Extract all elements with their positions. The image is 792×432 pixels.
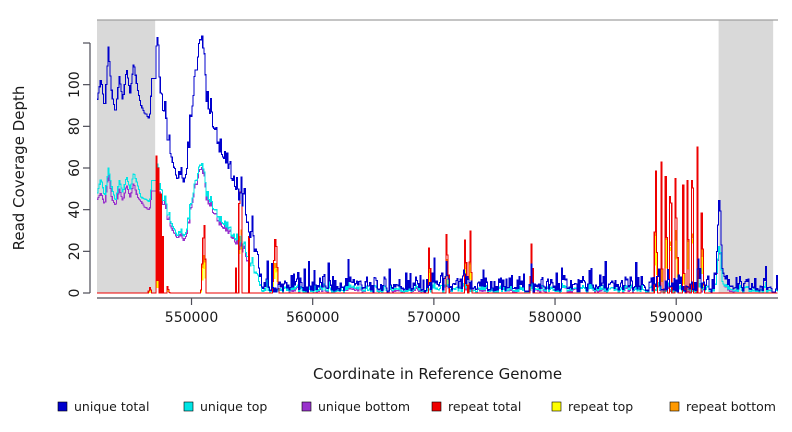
legend-swatch-repeat-bottom [670,402,679,411]
right-repeat-region [719,20,774,293]
y-tick-label: 80 [67,117,83,135]
y-tick-label: 40 [67,201,83,219]
x-tick-label: 570000 [407,310,460,326]
legend-swatch-unique-total [58,402,67,411]
legend-swatch-repeat-total [432,402,441,411]
y-axis-title: Read Coverage Depth [10,86,28,251]
legend-label: repeat total [448,399,521,414]
legend-swatch-unique-top [184,402,193,411]
coverage-chart-svg: 5500005600005700005800005900000204060801… [0,0,792,432]
coverage-plot-figure: 5500005600005700005800005900000204060801… [0,0,792,432]
legend-item[interactable]: unique bottom [302,399,410,414]
y-tick-label: 0 [67,289,83,298]
x-axis-title: Coordinate in Reference Genome [313,365,562,383]
x-tick-label: 590000 [649,310,702,326]
legend-label: unique bottom [318,399,410,414]
legend-label: repeat top [568,399,633,414]
legend-swatch-repeat-top [552,402,561,411]
x-tick-label: 560000 [286,310,339,326]
legend-item[interactable]: repeat bottom [670,399,776,414]
x-tick-label: 580000 [528,310,581,326]
y-tick-label: 100 [67,71,83,98]
legend-swatch-unique-bottom [302,402,311,411]
x-tick-label: 550000 [165,310,218,326]
legend-label: repeat bottom [686,399,776,414]
legend-label: unique top [200,399,267,414]
legend-label: unique total [74,399,149,414]
y-tick-label: 20 [67,242,83,260]
left-repeat-region [97,20,155,293]
y-tick-label: 60 [67,159,83,177]
